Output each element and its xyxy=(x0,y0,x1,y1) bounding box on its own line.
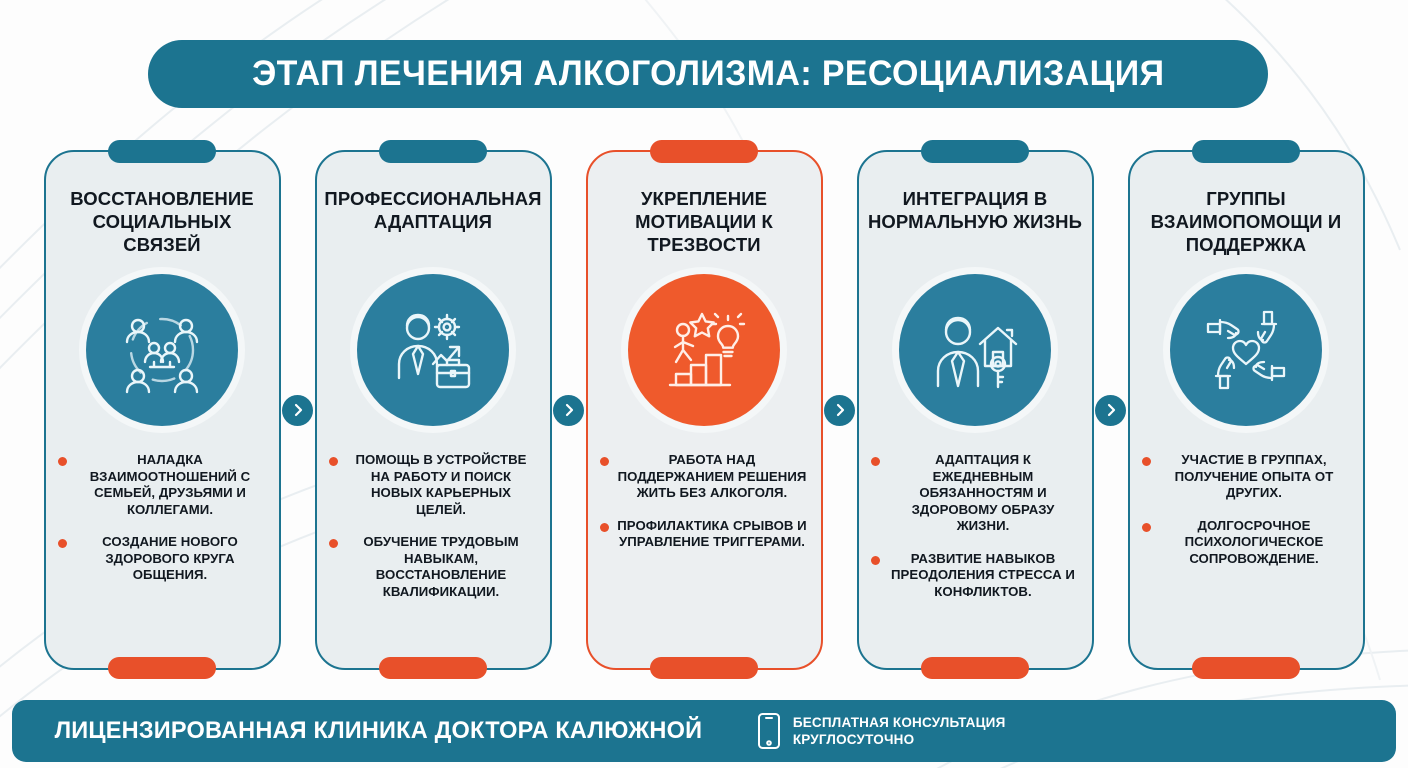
clinic-name: ЛИЦЕНЗИРОВАННАЯ КЛИНИКА ДОКТОРА КАЛЮЖНОЙ xyxy=(55,717,703,745)
card-top-tab xyxy=(1192,140,1300,163)
bullet-item: ОБУЧЕНИЕ ТРУДОВЫМ НАВЫКАМ, ВОССТАНОВЛЕНИ… xyxy=(329,534,538,600)
bullet-text: ДОЛГОСРОЧНОЕ ПСИХОЛОГИЧЕСКОЕ СОПРОВОЖДЕН… xyxy=(1158,518,1351,568)
bullet-dot-icon xyxy=(329,539,338,548)
card-bullets: УЧАСТИЕ В ГРУППАХ, ПОЛУЧЕНИЕ ОПЫТА ОТ ДР… xyxy=(1130,452,1363,567)
bullet-item: РАЗВИТИЕ НАВЫКОВ ПРЕОДОЛЕНИЯ СТРЕССА И К… xyxy=(871,551,1080,601)
bullet-dot-icon xyxy=(58,457,67,466)
card-title: ИНТЕГРАЦИЯ В НОРМАЛЬНУЮ ЖИЗНЬ xyxy=(859,188,1092,260)
bullet-text: ОБУЧЕНИЕ ТРУДОВЫМ НАВЫКАМ, ВОССТАНОВЛЕНИ… xyxy=(345,534,538,600)
header-banner: ЭТАП ЛЕЧЕНИЯ АЛКОГОЛИЗМА: РЕСОЦИАЛИЗАЦИЯ xyxy=(148,40,1268,108)
bullet-text: ПОМОЩЬ В УСТРОЙСТВЕ НА РАБОТУ И ПОИСК НО… xyxy=(345,452,538,518)
bullet-item: ПОМОЩЬ В УСТРОЙСТВЕ НА РАБОТУ И ПОИСК НО… xyxy=(329,452,538,518)
card-bottom-tab xyxy=(108,657,216,679)
mobile-phone-icon xyxy=(757,712,781,750)
bullet-text: РАЗВИТИЕ НАВЫКОВ ПРЕОДОЛЕНИЯ СТРЕССА И К… xyxy=(887,551,1080,601)
card-bullets: РАБОТА НАД ПОДДЕРЖАНИЕМ РЕШЕНИЯ ЖИТЬ БЕЗ… xyxy=(588,452,821,551)
bullet-item: ДОЛГОСРОЧНОЕ ПСИХОЛОГИЧЕСКОЕ СОПРОВОЖДЕН… xyxy=(1142,518,1351,568)
consultation-line-2: КРУГЛОСУТОЧНО xyxy=(793,731,1006,748)
chevron-right-icon xyxy=(282,395,313,426)
bullet-dot-icon xyxy=(871,457,880,466)
bullet-dot-icon xyxy=(1142,457,1151,466)
bullet-dot-icon xyxy=(600,457,609,466)
connector-2 xyxy=(552,150,586,670)
businessman-gear-briefcase-icon xyxy=(357,274,509,426)
card-bottom-tab xyxy=(921,657,1029,679)
bullet-dot-icon xyxy=(58,539,67,548)
steps-row: ВОССТАНОВЛЕНИЕ СОЦИАЛЬНЫХ СВЯЗЕЙ НАЛАДКА… xyxy=(0,150,1408,680)
card-integration-normal-life[interactable]: ИНТЕГРАЦИЯ В НОРМАЛЬНУЮ ЖИЗНЬ xyxy=(857,150,1094,670)
card-professional-adaptation[interactable]: ПРОФЕССИОНАЛЬНАЯ АДАПТАЦИЯ xyxy=(315,150,552,670)
bullet-text: АДАПТАЦИЯ К ЕЖЕДНЕВНЫМ ОБЯЗАННОСТЯМ И ЗД… xyxy=(887,452,1080,535)
page-title: ЭТАП ЛЕЧЕНИЯ АЛКОГОЛИЗМА: РЕСОЦИАЛИЗАЦИЯ xyxy=(252,54,1164,94)
bullet-dot-icon xyxy=(600,523,609,532)
card-bottom-tab xyxy=(650,657,758,679)
chevron-right-icon xyxy=(553,395,584,426)
infographic-page: ЭТАП ЛЕЧЕНИЯ АЛКОГОЛИЗМА: РЕСОЦИАЛИЗАЦИЯ… xyxy=(0,0,1408,768)
people-network-icon xyxy=(86,274,238,426)
card-top-tab xyxy=(650,140,758,163)
bullet-item: РАБОТА НАД ПОДДЕРЖАНИЕМ РЕШЕНИЯ ЖИТЬ БЕЗ… xyxy=(600,452,809,502)
connector-1 xyxy=(281,150,315,670)
chevron-right-icon xyxy=(824,395,855,426)
card-title: ВОССТАНОВЛЕНИЕ СОЦИАЛЬНЫХ СВЯЗЕЙ xyxy=(46,188,279,260)
bullet-text: ПРОФИЛАКТИКА СРЫВОВ И УПРАВЛЕНИЕ ТРИГГЕР… xyxy=(616,518,809,551)
card-top-tab xyxy=(379,140,487,163)
card-bullets: ПОМОЩЬ В УСТРОЙСТВЕ НА РАБОТУ И ПОИСК НО… xyxy=(317,452,550,600)
bullet-item: УЧАСТИЕ В ГРУППАХ, ПОЛУЧЕНИЕ ОПЫТА ОТ ДР… xyxy=(1142,452,1351,502)
card-top-tab xyxy=(921,140,1029,163)
bullet-item: НАЛАДКА ВЗАИМООТНОШЕНИЙ С СЕМЬЕЙ, ДРУЗЬЯ… xyxy=(58,452,267,518)
connector-4 xyxy=(1094,150,1128,670)
card-mutual-aid-groups[interactable]: ГРУППЫ ВЗАИМОПОМОЩИ И ПОДДЕРЖКА xyxy=(1128,150,1365,670)
connector-3 xyxy=(823,150,857,670)
card-title: УКРЕПЛЕНИЕ МОТИВАЦИИ К ТРЕЗВОСТИ xyxy=(588,188,821,260)
chevron-right-icon xyxy=(1095,395,1126,426)
card-bottom-tab xyxy=(1192,657,1300,679)
consultation-block: БЕСПЛАТНАЯ КОНСУЛЬТАЦИЯ КРУГЛОСУТОЧНО xyxy=(757,712,1006,750)
four-hands-heart-icon xyxy=(1170,274,1322,426)
consultation-line-1: БЕСПЛАТНАЯ КОНСУЛЬТАЦИЯ xyxy=(793,714,1006,731)
bullet-dot-icon xyxy=(871,556,880,565)
footer-banner: ЛИЦЕНЗИРОВАННАЯ КЛИНИКА ДОКТОРА КАЛЮЖНОЙ… xyxy=(12,700,1396,762)
card-title: ГРУППЫ ВЗАИМОПОМОЩИ И ПОДДЕРЖКА xyxy=(1130,188,1363,260)
consultation-lines: БЕСПЛАТНАЯ КОНСУЛЬТАЦИЯ КРУГЛОСУТОЧНО xyxy=(793,714,1006,749)
person-house-key-icon xyxy=(899,274,1051,426)
bullet-text: РАБОТА НАД ПОДДЕРЖАНИЕМ РЕШЕНИЯ ЖИТЬ БЕЗ… xyxy=(616,452,809,502)
card-social-ties[interactable]: ВОССТАНОВЛЕНИЕ СОЦИАЛЬНЫХ СВЯЗЕЙ НАЛАДКА… xyxy=(44,150,281,670)
bullet-dot-icon xyxy=(329,457,338,466)
bullet-text: СОЗДАНИЕ НОВОГО ЗДОРОВОГО КРУГА ОБЩЕНИЯ. xyxy=(74,534,267,584)
card-bullets: АДАПТАЦИЯ К ЕЖЕДНЕВНЫМ ОБЯЗАННОСТЯМ И ЗД… xyxy=(859,452,1092,600)
bullet-text: УЧАСТИЕ В ГРУППАХ, ПОЛУЧЕНИЕ ОПЫТА ОТ ДР… xyxy=(1158,452,1351,502)
card-bottom-tab xyxy=(379,657,487,679)
card-motivation-sobriety[interactable]: УКРЕПЛЕНИЕ МОТИВАЦИИ К ТРЕЗВОСТИ xyxy=(586,150,823,670)
card-top-tab xyxy=(108,140,216,163)
bullet-item: СОЗДАНИЕ НОВОГО ЗДОРОВОГО КРУГА ОБЩЕНИЯ. xyxy=(58,534,267,584)
bullet-item: АДАПТАЦИЯ К ЕЖЕДНЕВНЫМ ОБЯЗАННОСТЯМ И ЗД… xyxy=(871,452,1080,535)
bullet-dot-icon xyxy=(1142,523,1151,532)
card-bullets: НАЛАДКА ВЗАИМООТНОШЕНИЙ С СЕМЬЕЙ, ДРУЗЬЯ… xyxy=(46,452,279,584)
bullet-text: НАЛАДКА ВЗАИМООТНОШЕНИЙ С СЕМЬЕЙ, ДРУЗЬЯ… xyxy=(74,452,267,518)
person-climbing-stairs-star-bulb-icon xyxy=(628,274,780,426)
bullet-item: ПРОФИЛАКТИКА СРЫВОВ И УПРАВЛЕНИЕ ТРИГГЕР… xyxy=(600,518,809,551)
card-title: ПРОФЕССИОНАЛЬНАЯ АДАПТАЦИЯ xyxy=(316,188,549,260)
